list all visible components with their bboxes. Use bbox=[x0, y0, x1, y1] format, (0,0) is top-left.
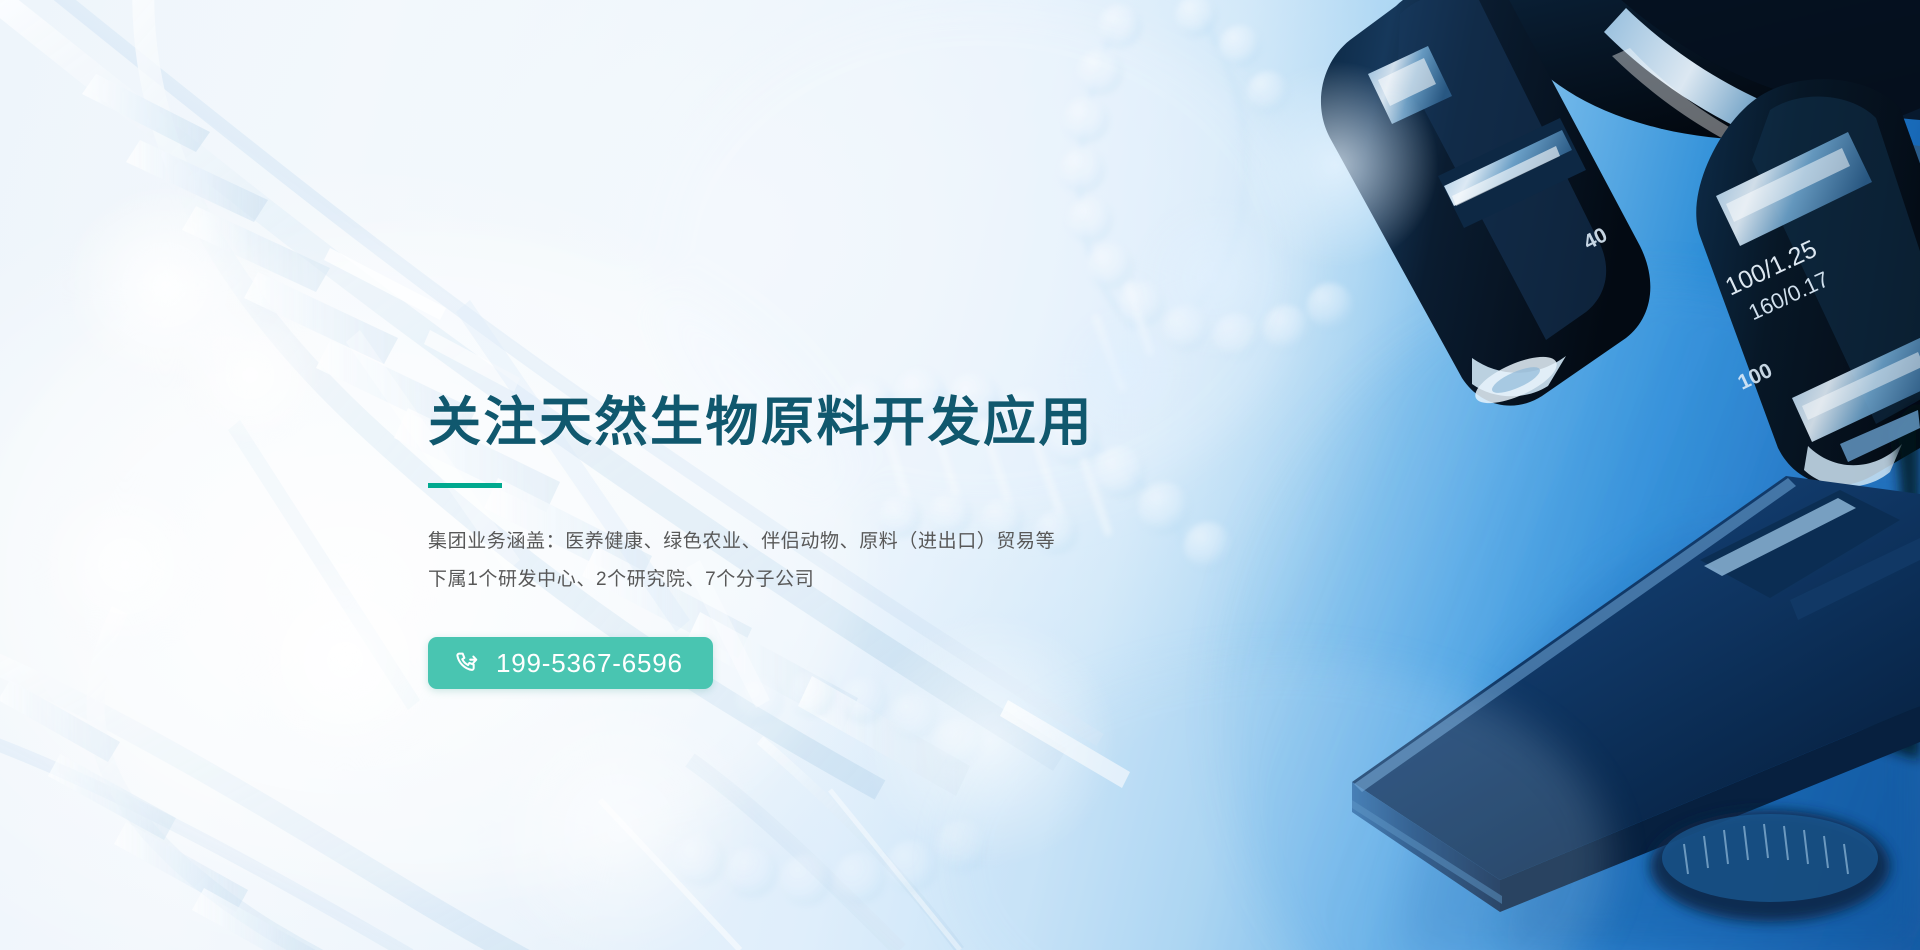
phone-number-label: 199-5367-6596 bbox=[496, 650, 683, 676]
bokeh-light-blob bbox=[230, 545, 460, 775]
objective-lens-40x: 40 bbox=[1321, 0, 1650, 413]
bokeh-light-blob bbox=[175, 300, 325, 450]
phone-outgoing-icon bbox=[454, 650, 481, 677]
bokeh-light-blob bbox=[470, 700, 770, 950]
bokeh-light-blob bbox=[1130, 195, 1295, 360]
hero-cta-row: 199-5367-6596 bbox=[428, 637, 1228, 689]
bokeh-light-blob bbox=[60, 180, 270, 390]
blue-depth-glow bbox=[1220, 280, 1920, 950]
microscope-stage-right bbox=[1352, 410, 1920, 922]
lens-marking-40: 40 bbox=[1580, 223, 1611, 254]
phone-cta-button[interactable]: 199-5367-6596 bbox=[428, 637, 713, 689]
bokeh-light-blob bbox=[1230, 60, 1440, 270]
page-title: 关注天然生物原料开发应用 bbox=[428, 392, 1228, 453]
hero-banner: 40 100/1.25 160/0.17 bbox=[0, 0, 1920, 950]
hero-description: 集团业务涵盖：医养健康、绿色农业、伴侣动物、原料（进出口）贸易等 下属1个研发中… bbox=[428, 523, 1228, 599]
lens-marking-100-125: 100/1.25 bbox=[1721, 235, 1821, 302]
microscope-objectives-right: 40 100/1.25 160/0.17 bbox=[1321, 0, 1920, 760]
hero-content: 关注天然生物原料开发应用 集团业务涵盖：医养健康、绿色农业、伴侣动物、原料（进出… bbox=[428, 392, 1228, 689]
lens-marking-100: 100 bbox=[1734, 359, 1775, 395]
hero-description-line-1: 集团业务涵盖：医养健康、绿色农业、伴侣动物、原料（进出口）贸易等 bbox=[428, 523, 1228, 561]
hero-description-line-2: 下属1个研发中心、2个研究院、7个分子公司 bbox=[428, 561, 1228, 599]
bokeh-light-blob bbox=[30, 470, 220, 660]
lens-marking-160-017: 160/0.17 bbox=[1745, 266, 1833, 325]
title-divider bbox=[428, 483, 502, 488]
objective-lens-100x: 100/1.25 160/0.17 100 bbox=[1696, 79, 1920, 487]
